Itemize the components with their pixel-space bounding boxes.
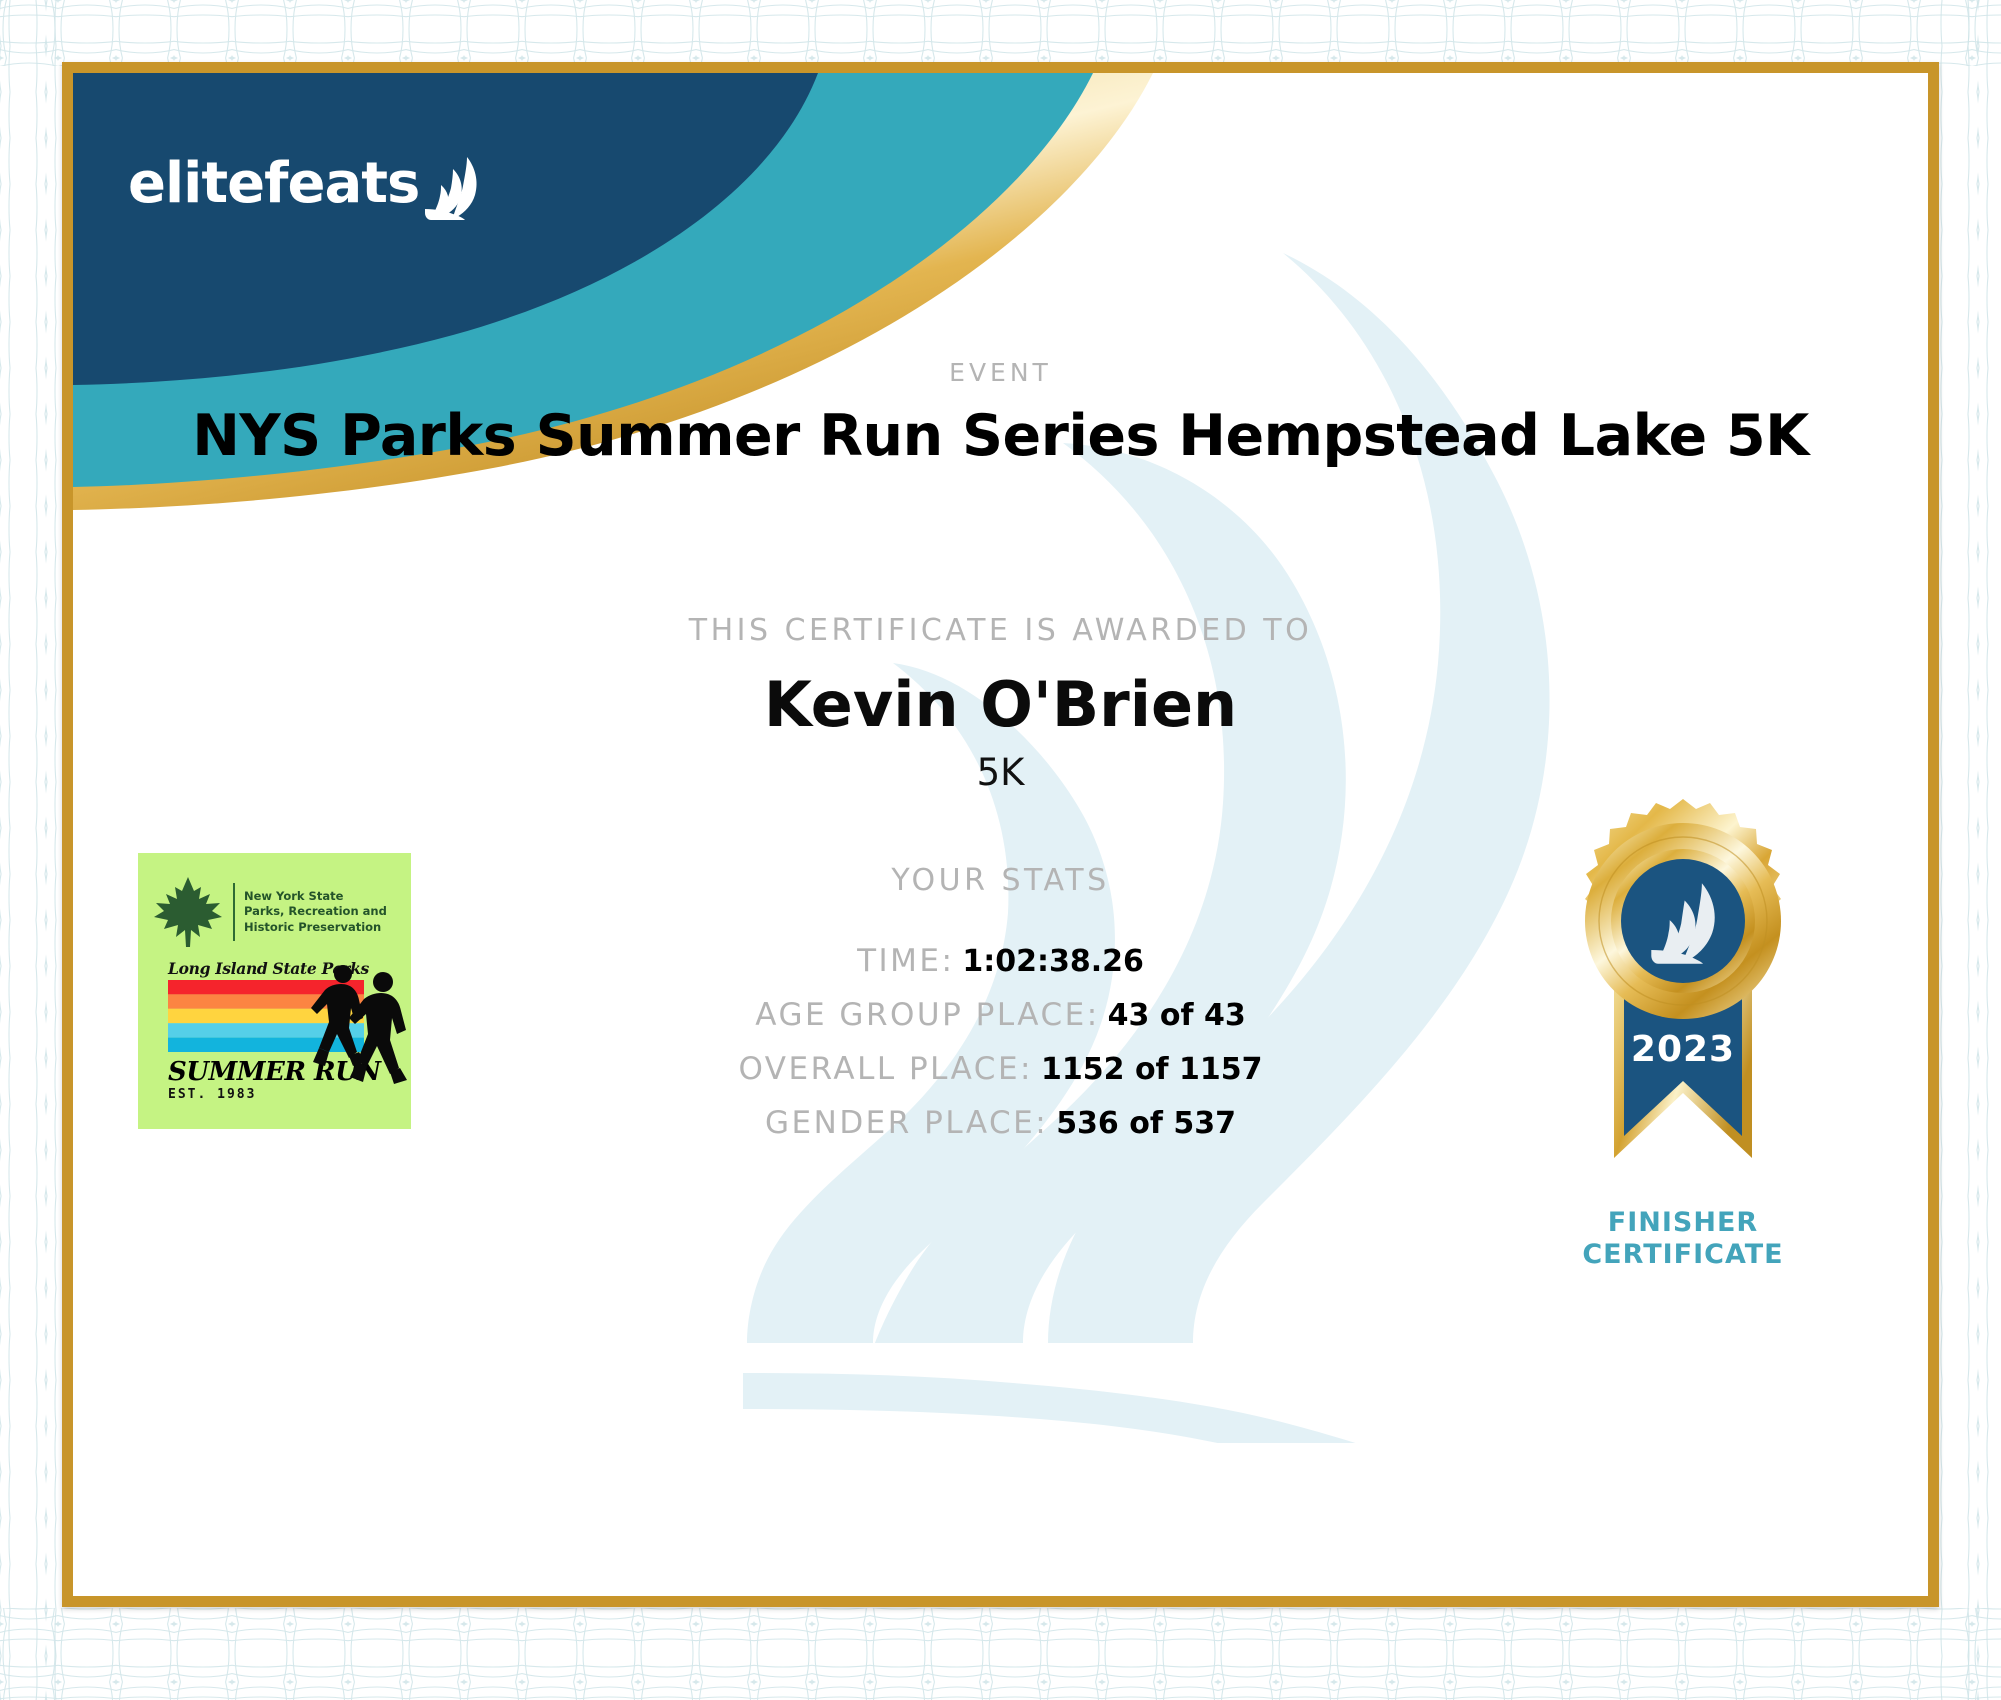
- stat-value: 536 of 537: [1056, 1106, 1236, 1141]
- stat-value: 1152 of 1157: [1041, 1052, 1263, 1087]
- recipient-distance: 5K: [73, 751, 1928, 794]
- summer-run-lockup: Long Island State Parks SUMMER RUN EST. …: [138, 959, 411, 1102]
- event-label: EVENT: [73, 358, 1928, 387]
- medal-year-text: 2023: [1631, 1029, 1735, 1070]
- award-medal-icon: 2023: [1548, 793, 1818, 1213]
- finisher-certificate-caption: FINISHER CERTIFICATE: [1538, 1207, 1828, 1271]
- stat-key: GENDER PLACE:: [765, 1105, 1048, 1141]
- nys-parks-agency-lockup: New York State Parks, Recreation and His…: [138, 853, 411, 955]
- certificate-frame: elitefeats EVENT NYS Parks Summer Run Se…: [62, 62, 1939, 1607]
- stat-value: 43 of 43: [1108, 998, 1246, 1033]
- stat-key: OVERALL PLACE:: [738, 1051, 1033, 1087]
- certificate-content: EVENT NYS Parks Summer Run Series Hempst…: [73, 73, 1928, 1596]
- logo-divider: [233, 883, 235, 941]
- nys-parks-agency-text: New York State Parks, Recreation and His…: [244, 889, 387, 935]
- agency-line-2: Parks, Recreation and: [244, 904, 387, 919]
- agency-line-1: New York State: [244, 889, 387, 904]
- stat-key: AGE GROUP PLACE:: [755, 997, 1099, 1033]
- runners-silhouette-icon: [307, 956, 411, 1106]
- agency-line-3: Historic Preservation: [244, 920, 387, 935]
- maple-leaf-icon: [152, 875, 224, 949]
- finisher-medal-badge: 2023: [1538, 793, 1828, 1323]
- nys-parks-summer-run-logo: New York State Parks, Recreation and His…: [138, 853, 411, 1129]
- stat-value: 1:02:38.26: [962, 944, 1144, 979]
- awarded-to-label: THIS CERTIFICATE IS AWARDED TO: [73, 613, 1928, 648]
- recipient-name: Kevin O'Brien: [73, 668, 1928, 741]
- caption-line-2: CERTIFICATE: [1538, 1239, 1828, 1271]
- event-title: NYS Parks Summer Run Series Hempstead La…: [73, 403, 1928, 469]
- caption-line-1: FINISHER: [1538, 1207, 1828, 1239]
- stat-key: TIME:: [857, 943, 954, 979]
